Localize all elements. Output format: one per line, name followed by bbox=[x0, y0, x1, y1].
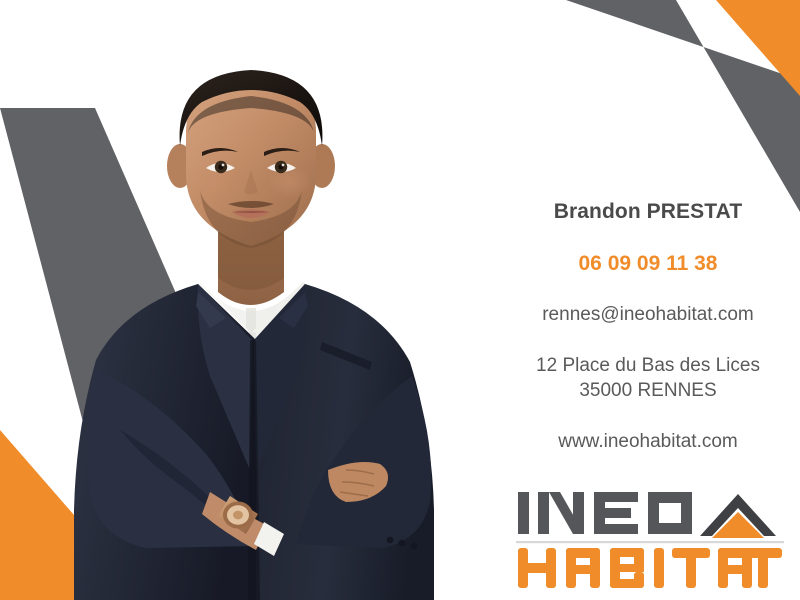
business-card: Brandon PRESTAT 06 09 09 11 38 rennes@in… bbox=[0, 0, 800, 600]
jacket-button bbox=[399, 540, 406, 547]
address-line-2: 35000 RENNES bbox=[500, 378, 796, 403]
jacket-button bbox=[411, 543, 418, 550]
portrait-photo bbox=[60, 40, 510, 600]
email-address[interactable]: rennes@ineohabitat.com bbox=[500, 304, 796, 327]
person-name: Brandon PRESTAT bbox=[500, 200, 796, 224]
website-url[interactable]: www.ineohabitat.com bbox=[500, 431, 796, 454]
logo-word-ineo bbox=[518, 492, 692, 534]
orange-corner-triangle-top-right bbox=[716, 0, 800, 96]
postal-address: 12 Place du Bas des Lices 35000 RENNES bbox=[500, 353, 796, 403]
house-roof-icon bbox=[700, 494, 776, 538]
gray-diagonal-stripe-right bbox=[566, 0, 800, 212]
logo-word-habitat bbox=[518, 548, 782, 588]
company-logo[interactable]: INEO bbox=[516, 486, 784, 592]
phone-number[interactable]: 06 09 09 11 38 bbox=[500, 252, 796, 276]
jacket-button bbox=[387, 537, 394, 544]
address-line-1: 12 Place du Bas des Lices bbox=[500, 353, 796, 378]
ineo-habitat-logo: INEO bbox=[516, 486, 784, 592]
portrait-illustration bbox=[60, 40, 510, 600]
contact-details: Brandon PRESTAT 06 09 09 11 38 rennes@in… bbox=[500, 200, 796, 454]
head bbox=[167, 70, 335, 248]
logo-divider bbox=[516, 541, 784, 543]
